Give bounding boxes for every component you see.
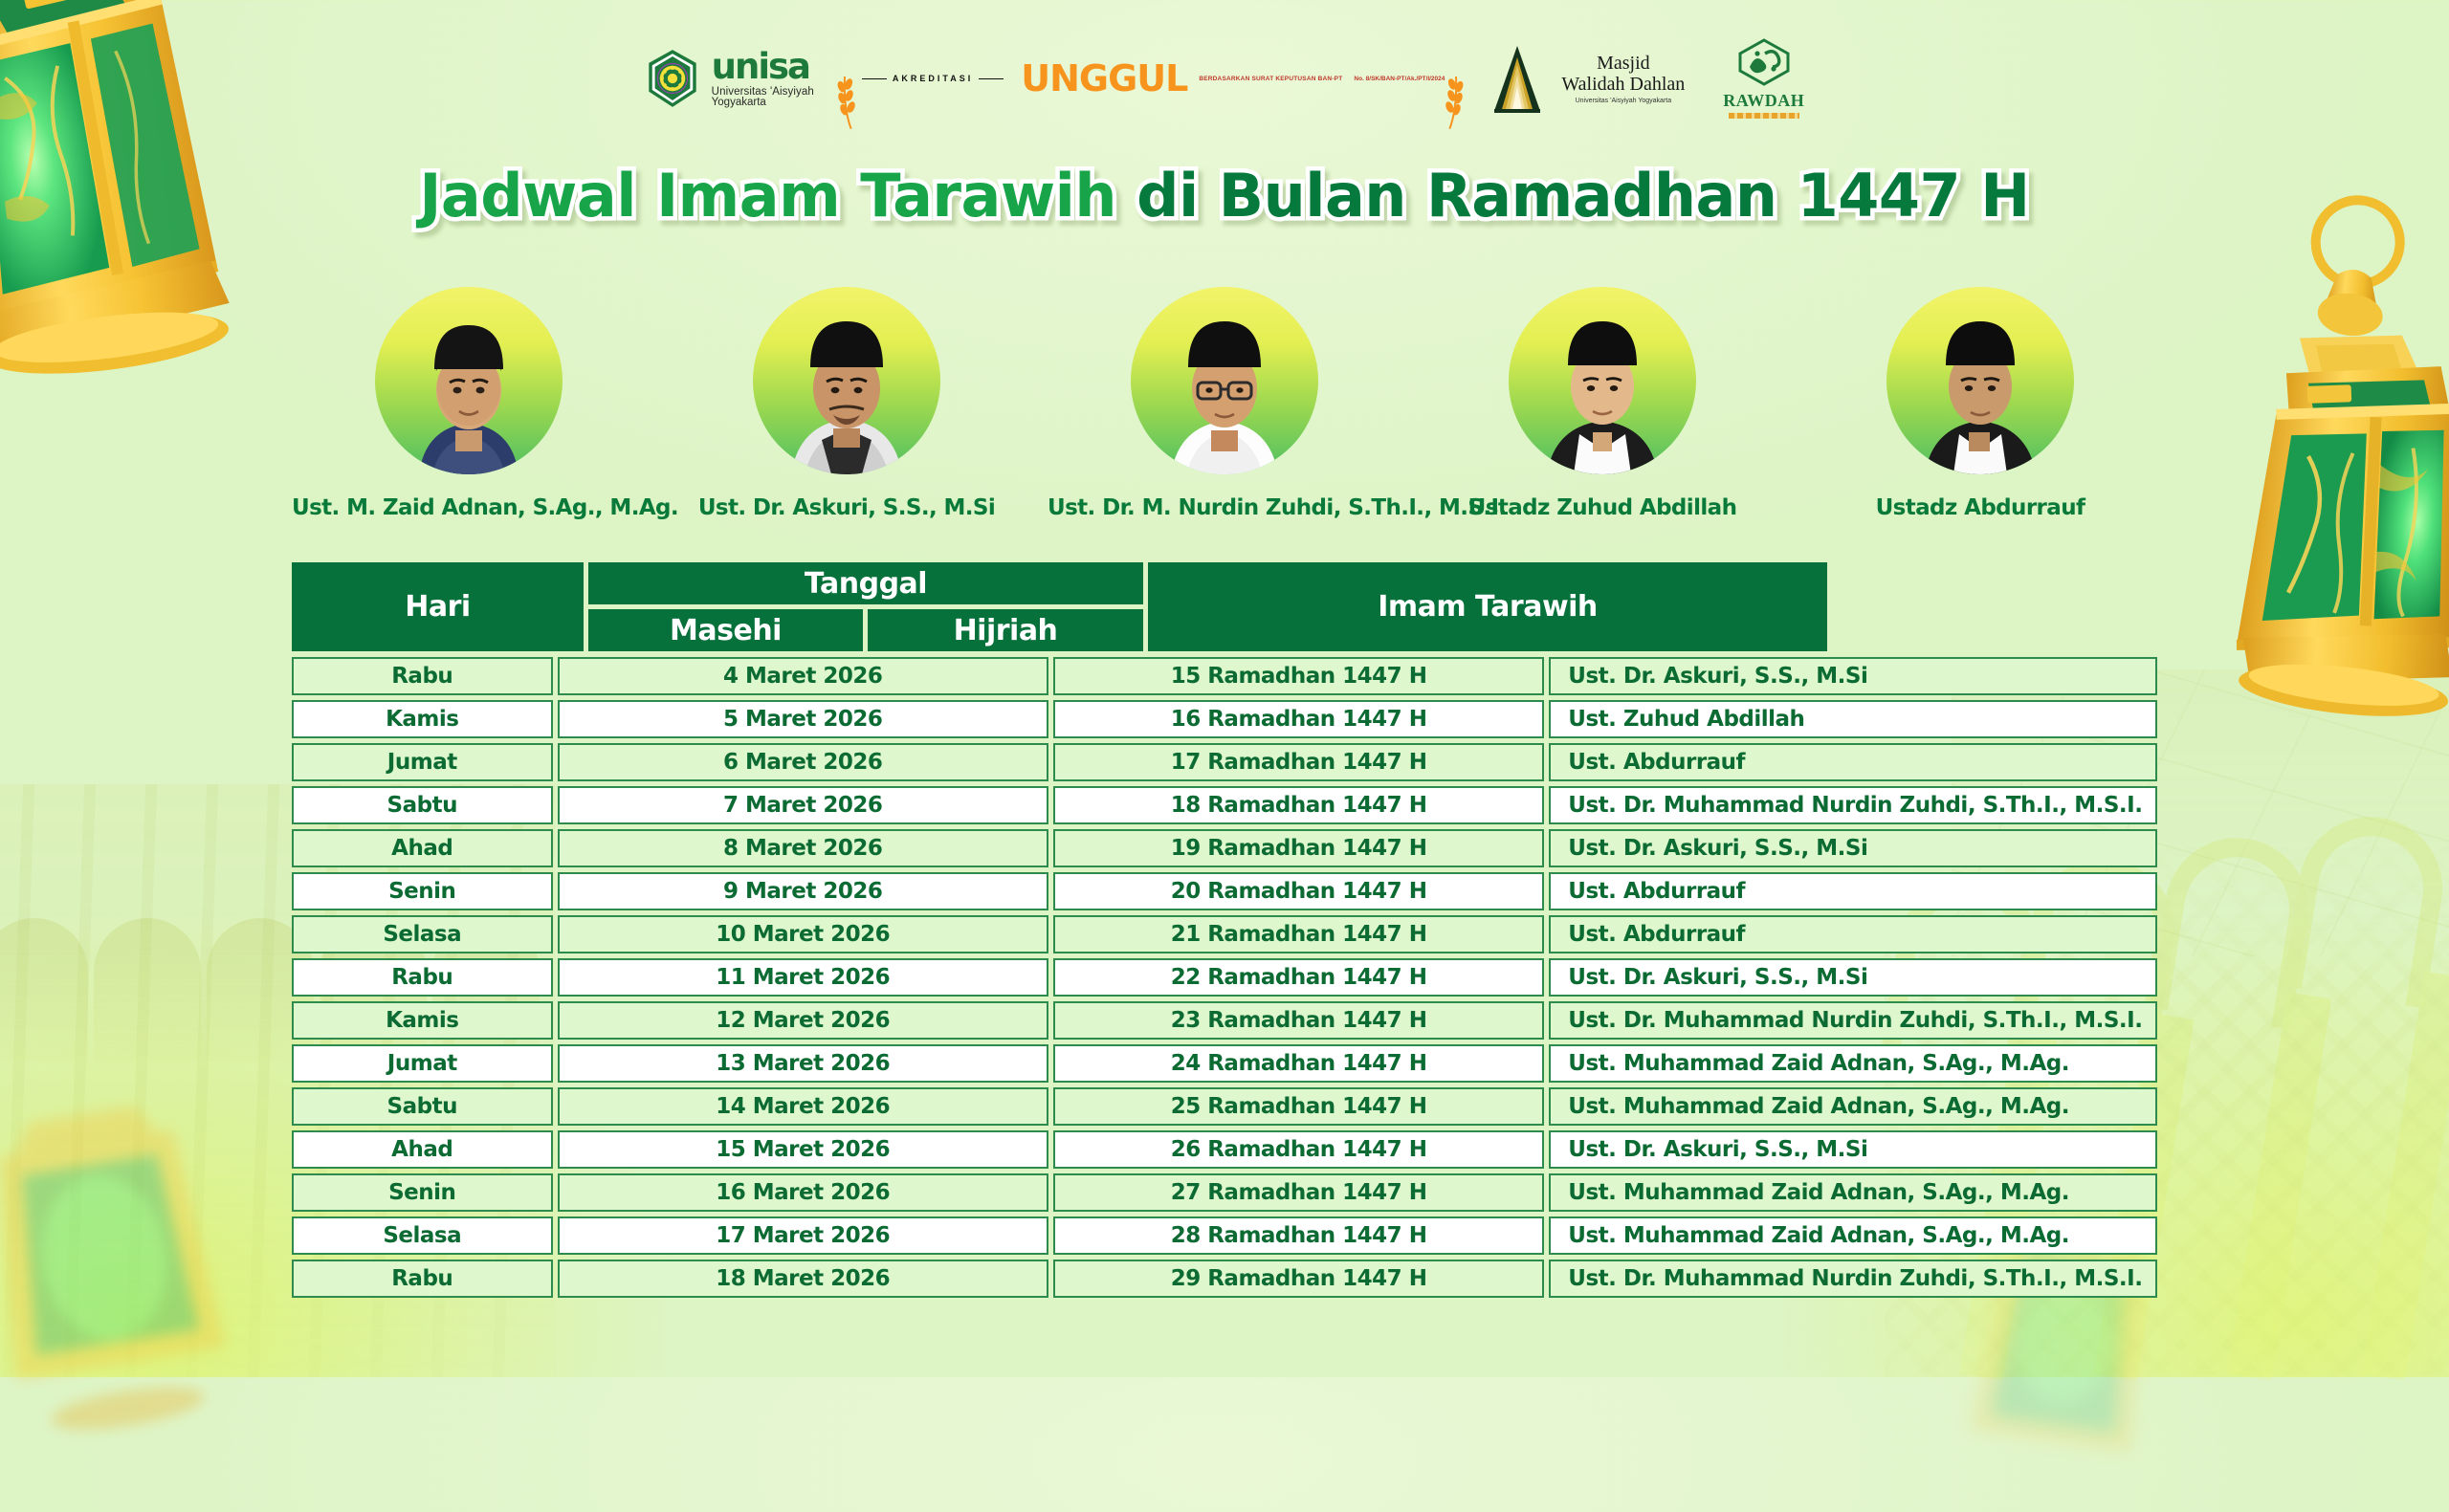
table-row: Rabu4 Maret 202615 Ramadhan 1447 HUst. D… (292, 657, 2157, 695)
rawdah-wordmark: RAWDAH (1723, 91, 1804, 111)
cell-hijriah: 19 Ramadhan 1447 H (1053, 829, 1544, 867)
cell-imam: Ust. Muhammad Zaid Adnan, S.Ag., M.Ag. (1549, 1173, 2157, 1212)
imam-card: Ust. Dr. Askuri, S.S., M.Si (670, 287, 1024, 520)
table-row: Sabtu14 Maret 202625 Ramadhan 1447 HUst.… (292, 1087, 2157, 1126)
cell-masehi: 15 Maret 2026 (558, 1130, 1048, 1169)
imam-name: Ust. M. Zaid Adnan, S.Ag., M.Ag. (292, 495, 646, 520)
imam-name: Ust. Dr. Askuri, S.S., M.Si (670, 495, 1024, 520)
akreditasi-unggul-logo: AKREDITASI UNGGUL BERDASARKAN SURAT KEPU… (852, 61, 1449, 96)
column-header-masehi: Masehi (588, 609, 863, 651)
cell-imam: Ust. Abdurrauf (1549, 872, 2157, 910)
cell-imam: Ust. Muhammad Zaid Adnan, S.Ag., M.Ag. (1549, 1087, 2157, 1126)
unisa-seal-icon (645, 49, 700, 108)
table-row: Kamis5 Maret 202616 Ramadhan 1447 HUst. … (292, 700, 2157, 738)
cell-masehi: 10 Maret 2026 (558, 915, 1048, 953)
portrait-photo-icon (375, 287, 563, 474)
imam-card: Ustadz Zuhud Abdillah (1425, 287, 1779, 520)
imam-card: Ust. Dr. M. Nurdin Zuhdi, S.Th.I., M.S.I… (1048, 287, 1401, 520)
table-row: Kamis12 Maret 202623 Ramadhan 1447 HUst.… (292, 1001, 2157, 1040)
masjid-name-line2: Walidah Dahlan (1561, 74, 1685, 95)
table-row: Sabtu7 Maret 202618 Ramadhan 1447 HUst. … (292, 786, 2157, 824)
masjid-name-line1: Masjid (1561, 53, 1685, 74)
cell-hijriah: 18 Ramadhan 1447 H (1053, 786, 1544, 824)
cell-imam: Ust. Dr. Muhammad Nurdin Zuhdi, S.Th.I.,… (1549, 786, 2157, 824)
page-title: Jadwal Imam Tarawih di Bulan Ramadhan 14… (0, 161, 2449, 230)
table-row: Rabu18 Maret 202629 Ramadhan 1447 HUst. … (292, 1260, 2157, 1298)
table-row: Senin9 Maret 202620 Ramadhan 1447 HUst. … (292, 872, 2157, 910)
cell-hari: Rabu (292, 1260, 553, 1298)
cell-imam: Ust. Dr. Askuri, S.S., M.Si (1549, 958, 2157, 997)
cell-masehi: 8 Maret 2026 (558, 829, 1048, 867)
akreditasi-sk-line2: No. 8/SK/BAN-PT/Ak./PT/I/2024 (1354, 76, 1445, 82)
masjid-walidah-dahlan-logo: Masjid Walidah Dahlan Universitas 'Aisyi… (1487, 44, 1685, 113)
portrait-photo-icon (1886, 287, 2074, 474)
imam-name: Ustadz Abdurrauf (1803, 495, 2157, 520)
avatar (1886, 287, 2074, 474)
cell-masehi: 7 Maret 2026 (558, 786, 1048, 824)
cell-masehi: 17 Maret 2026 (558, 1216, 1048, 1255)
cell-hijriah: 16 Ramadhan 1447 H (1053, 700, 1544, 738)
table-row: Senin16 Maret 202627 Ramadhan 1447 HUst.… (292, 1173, 2157, 1212)
cell-hijriah: 25 Ramadhan 1447 H (1053, 1087, 1544, 1126)
cell-hijriah: 28 Ramadhan 1447 H (1053, 1216, 1544, 1255)
schedule-table: Hari Tanggal Masehi Hijriah Imam Tarawih… (292, 562, 2157, 1303)
column-header-tanggal-group: Tanggal Masehi Hijriah (588, 562, 1143, 651)
cell-hari: Selasa (292, 915, 553, 953)
cell-hari: Kamis (292, 700, 553, 738)
cell-hijriah: 26 Ramadhan 1447 H (1053, 1130, 1544, 1169)
cell-masehi: 6 Maret 2026 (558, 743, 1048, 781)
table-row: Ahad15 Maret 202626 Ramadhan 1447 HUst. … (292, 1130, 2157, 1169)
cell-imam: Ust. Abdurrauf (1549, 743, 2157, 781)
column-header-hari: Hari (292, 562, 584, 651)
table-header: Hari Tanggal Masehi Hijriah Imam Tarawih (292, 562, 2157, 651)
cell-imam: Ust. Dr. Muhammad Nurdin Zuhdi, S.Th.I.,… (1549, 1001, 2157, 1040)
column-header-imam: Imam Tarawih (1148, 562, 1827, 651)
column-header-tanggal: Tanggal (588, 562, 1143, 604)
cell-hari: Senin (292, 1173, 553, 1212)
cell-hijriah: 23 Ramadhan 1447 H (1053, 1001, 1544, 1040)
cell-hijriah: 17 Ramadhan 1447 H (1053, 743, 1544, 781)
cell-hijriah: 27 Ramadhan 1447 H (1053, 1173, 1544, 1212)
imam-card: Ustadz Abdurrauf (1803, 287, 2157, 520)
cell-hari: Sabtu (292, 1087, 553, 1126)
avatar (1131, 287, 1318, 474)
unisa-subtitle-line2: Yogyakarta (712, 98, 814, 109)
cell-hijriah: 20 Ramadhan 1447 H (1053, 872, 1544, 910)
wheat-icon (837, 73, 856, 130)
cell-imam: Ust. Abdurrauf (1549, 915, 2157, 953)
cell-masehi: 14 Maret 2026 (558, 1087, 1048, 1126)
imam-name: Ust. Dr. M. Nurdin Zuhdi, S.Th.I., M.S.I… (1048, 495, 1401, 520)
cell-hari: Ahad (292, 1130, 553, 1169)
lantern-icon-right (2192, 169, 2449, 730)
unisa-logo: unisa Universitas 'Aisyiyah Yogyakarta (645, 49, 814, 109)
wheat-icon (1445, 73, 1464, 130)
cell-imam: Ust. Dr. Muhammad Nurdin Zuhdi, S.Th.I.,… (1549, 1260, 2157, 1298)
cell-masehi: 4 Maret 2026 (558, 657, 1048, 695)
rawdah-calligraphy-icon (1736, 38, 1792, 86)
cell-hari: Ahad (292, 829, 553, 867)
page-title-part2: di Bulan Ramadhan 1447 H (1136, 161, 2030, 230)
cell-hijriah: 15 Ramadhan 1447 H (1053, 657, 1544, 695)
avatar (1509, 287, 1696, 474)
cell-imam: Ust. Muhammad Zaid Adnan, S.Ag., M.Ag. (1549, 1216, 2157, 1255)
cell-hijriah: 24 Ramadhan 1447 H (1053, 1044, 1544, 1083)
cell-hari: Jumat (292, 1044, 553, 1083)
masjid-affiliation: Universitas 'Aisyiyah Yogyakarta (1561, 98, 1685, 105)
cell-masehi: 13 Maret 2026 (558, 1044, 1048, 1083)
table-body: Rabu4 Maret 202615 Ramadhan 1447 HUst. D… (292, 657, 2157, 1298)
portrait-photo-icon (1131, 287, 1318, 474)
masjid-minaret-icon (1487, 44, 1548, 113)
imam-card: Ust. M. Zaid Adnan, S.Ag., M.Ag. (292, 287, 646, 520)
imam-name: Ustadz Zuhud Abdillah (1425, 495, 1779, 520)
avatar (375, 287, 563, 474)
cell-hari: Jumat (292, 743, 553, 781)
table-row: Jumat13 Maret 202624 Ramadhan 1447 HUst.… (292, 1044, 2157, 1083)
logo-bar: unisa Universitas 'Aisyiyah Yogyakarta (0, 38, 2449, 119)
akreditasi-sk-line1: BERDASARKAN SURAT KEPUTUSAN BAN-PT (1199, 76, 1342, 82)
table-row: Selasa17 Maret 202628 Ramadhan 1447 HUst… (292, 1216, 2157, 1255)
cell-masehi: 12 Maret 2026 (558, 1001, 1048, 1040)
akreditasi-label: AKREDITASI (893, 74, 973, 83)
cell-imam: Ust. Dr. Askuri, S.S., M.Si (1549, 829, 2157, 867)
cell-masehi: 5 Maret 2026 (558, 700, 1048, 738)
cell-hari: Senin (292, 872, 553, 910)
avatar (753, 287, 940, 474)
cell-imam: Ust. Dr. Askuri, S.S., M.Si (1549, 1130, 2157, 1169)
cell-masehi: 16 Maret 2026 (558, 1173, 1048, 1212)
column-header-hijriah: Hijriah (868, 609, 1143, 651)
cell-hari: Kamis (292, 1001, 553, 1040)
cell-masehi: 18 Maret 2026 (558, 1260, 1048, 1298)
cell-hijriah: 22 Ramadhan 1447 H (1053, 958, 1544, 997)
rawdah-underline (1729, 113, 1799, 119)
table-row: Jumat6 Maret 202617 Ramadhan 1447 HUst. … (292, 743, 2157, 781)
cell-imam: Ust. Dr. Askuri, S.S., M.Si (1549, 657, 2157, 695)
imam-portraits-row: Ust. M. Zaid Adnan, S.Ag., M.Ag. Ust. Dr… (292, 287, 2157, 520)
portrait-photo-icon (1509, 287, 1696, 474)
table-row: Ahad8 Maret 202619 Ramadhan 1447 HUst. D… (292, 829, 2157, 867)
cell-hijriah: 29 Ramadhan 1447 H (1053, 1260, 1544, 1298)
cell-hari: Rabu (292, 657, 553, 695)
cell-imam: Ust. Muhammad Zaid Adnan, S.Ag., M.Ag. (1549, 1044, 2157, 1083)
cell-hari: Selasa (292, 1216, 553, 1255)
table-row: Rabu11 Maret 202622 Ramadhan 1447 HUst. … (292, 958, 2157, 997)
lantern-icon-ghost-left (0, 1011, 288, 1457)
page-title-part1: Jadwal Imam Tarawih (419, 161, 1136, 230)
cell-hari: Rabu (292, 958, 553, 997)
cell-masehi: 11 Maret 2026 (558, 958, 1048, 997)
cell-masehi: 9 Maret 2026 (558, 872, 1048, 910)
akreditasi-grade: UNGGUL (1021, 61, 1187, 96)
cell-imam: Ust. Zuhud Abdillah (1549, 700, 2157, 738)
cell-hijriah: 21 Ramadhan 1447 H (1053, 915, 1544, 953)
table-row: Selasa10 Maret 202621 Ramadhan 1447 HUst… (292, 915, 2157, 953)
rawdah-logo: RAWDAH (1723, 38, 1804, 119)
portrait-photo-icon (753, 287, 940, 474)
cell-hari: Sabtu (292, 786, 553, 824)
unisa-wordmark: unisa (712, 49, 814, 84)
